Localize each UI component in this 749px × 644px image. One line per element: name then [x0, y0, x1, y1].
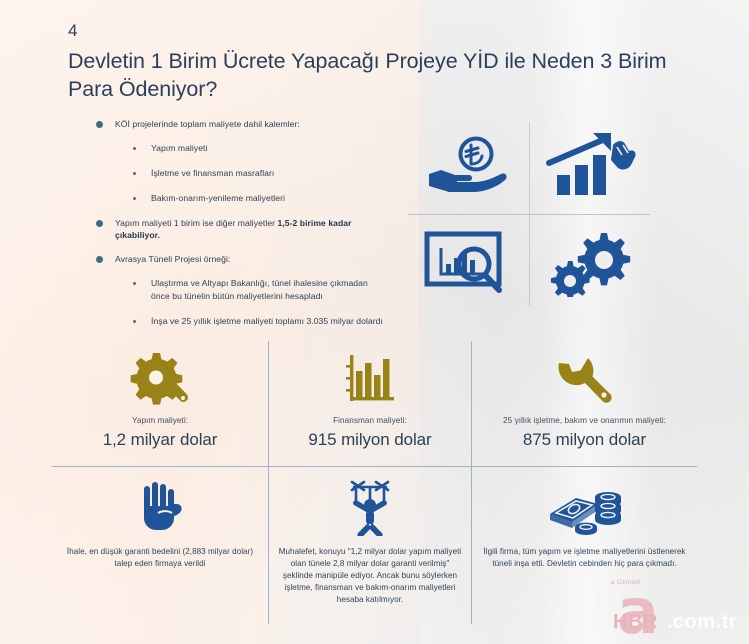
list-item-label: KÖİ projelerinde toplam maliyete dahil k… — [115, 118, 300, 131]
bullet-dot-icon — [96, 121, 103, 128]
cost-caption: 25 yıllık işletme, bakım ve onarımın mal… — [480, 416, 689, 427]
gear-wrench-icon — [129, 351, 191, 407]
hand-holding-lira-coin-icon — [419, 134, 515, 198]
page-title-line1: Devletin 1 Birim Ücrete Yapacağı Projeye… — [68, 47, 668, 75]
outcome-cell-tender: İhale, en düşük garanti bedelini (2,883 … — [52, 478, 268, 570]
bullet-dash-icon — [133, 197, 136, 200]
cost-cell-maintenance: 25 yıllık işletme, bakım ve onarımın mal… — [472, 349, 697, 450]
outcome-text: İlgili firma, tüm yapım ve işletme maliy… — [480, 546, 689, 570]
outcome-icon-wrap — [480, 478, 689, 536]
cost-cell-construction: Yapım maliyeti: 1,2 milyar dolar — [52, 349, 268, 450]
bullet-dot-icon — [96, 220, 103, 227]
presentation-chart-magnifier-icon — [419, 226, 515, 298]
cost-value: 875 milyon dolar — [480, 430, 689, 450]
list-item-label: İşletme ve finansman masrafları — [151, 167, 274, 180]
outcome-icon-wrap — [277, 478, 463, 536]
list-item: İnşa ve 25 yıllık işletme maliyeti topla… — [130, 315, 386, 328]
page-title: Devletin 1 Birim Ücrete Yapacağı Projeye… — [68, 47, 668, 104]
quadrant-cell-bottom-right — [529, 214, 654, 310]
list-item: İşletme ve finansman masrafları — [130, 167, 386, 180]
growth-bar-chart-arrow-hand-icon — [543, 131, 641, 201]
money-stack-coins-icon — [546, 480, 624, 536]
puppet-marionette-icon — [342, 478, 398, 536]
list-item: KÖİ projelerinde toplam maliyete dahil k… — [96, 118, 386, 131]
cost-cell-financing: Finansman maliyeti: 915 milyon dolar — [269, 349, 471, 450]
icon-quadrant — [404, 118, 654, 310]
outcome-cell-opposition: Muhalefet, konuyu "1,2 milyar dolar yapı… — [269, 478, 471, 606]
wrench-icon — [553, 353, 617, 407]
cost-icon-wrap — [480, 349, 689, 407]
quadrant-cell-top-right — [529, 118, 654, 214]
cost-value: 915 milyon dolar — [277, 430, 463, 450]
cost-icon-wrap — [277, 349, 463, 407]
list-item-label: Avrasya Tüneli Projesi örneği: — [115, 253, 230, 266]
raised-hand-icon — [138, 480, 182, 536]
bullet-list: KÖİ projelerinde toplam maliyete dahil k… — [96, 118, 386, 340]
outcome-text: İhale, en düşük garanti bedelini (2,883 … — [60, 546, 260, 570]
list-item-label: Ulaştırma ve Altyapı Bakanlığı, tünel ih… — [151, 277, 386, 303]
bullet-dot-icon — [96, 256, 103, 263]
list-item-label: İnşa ve 25 yıllık işletme maliyeti topla… — [151, 315, 383, 328]
list-item-label: Bakım-onarım-yenileme maliyetleri — [151, 192, 285, 205]
cost-caption: Finansman maliyeti: — [277, 416, 463, 427]
grid-horizontal-divider — [52, 466, 697, 467]
gears-icon — [549, 227, 635, 297]
bullet-dash-icon — [133, 320, 136, 323]
slide-number: 4 — [68, 22, 668, 41]
quadrant-cell-bottom-left — [404, 214, 529, 310]
outcome-text: Muhalefet, konuyu "1,2 milyar dolar yapı… — [277, 546, 463, 606]
list-item: Ulaştırma ve Altyapı Bakanlığı, tünel ih… — [130, 277, 386, 303]
infographic-slide: 4 Devletin 1 Birim Ücrete Yapacağı Proje… — [0, 0, 749, 644]
bar-chart-icon — [342, 353, 398, 407]
bullet-dash-icon — [133, 282, 136, 285]
outcome-icon-wrap — [60, 478, 260, 536]
list-item: Yapım maliyeti — [130, 142, 386, 155]
cost-caption: Yapım maliyeti: — [60, 416, 260, 427]
bullet-dash-icon — [133, 147, 136, 150]
bullet-dash-icon — [133, 172, 136, 175]
cost-icon-wrap — [60, 349, 260, 407]
list-item: Bakım-onarım-yenileme maliyetleri — [130, 192, 386, 205]
outcome-cell-firm: İlgili firma, tüm yapım ve işletme maliy… — [472, 478, 697, 570]
slide-header: 4 Devletin 1 Birim Ücrete Yapacağı Proje… — [68, 22, 668, 103]
list-item-label-mixed: Yapım maliyeti 1 birim ise diğer maliyet… — [115, 217, 386, 243]
list-item: Yapım maliyeti 1 birim ise diğer maliyet… — [96, 217, 386, 243]
list-item-label: Yapım maliyeti — [151, 142, 207, 155]
page-title-line2: Para Ödeniyor? — [68, 75, 668, 103]
list-item: Avrasya Tüneli Projesi örneği: — [96, 253, 386, 266]
list-item-label-plain: Yapım maliyeti 1 birim ise diğer maliyet… — [115, 218, 278, 228]
cost-value: 1,2 milyar dolar — [60, 430, 260, 450]
cost-outcome-grid: Yapım maliyeti: 1,2 milyar dolar — [52, 341, 697, 626]
quadrant-cell-top-left — [404, 118, 529, 214]
